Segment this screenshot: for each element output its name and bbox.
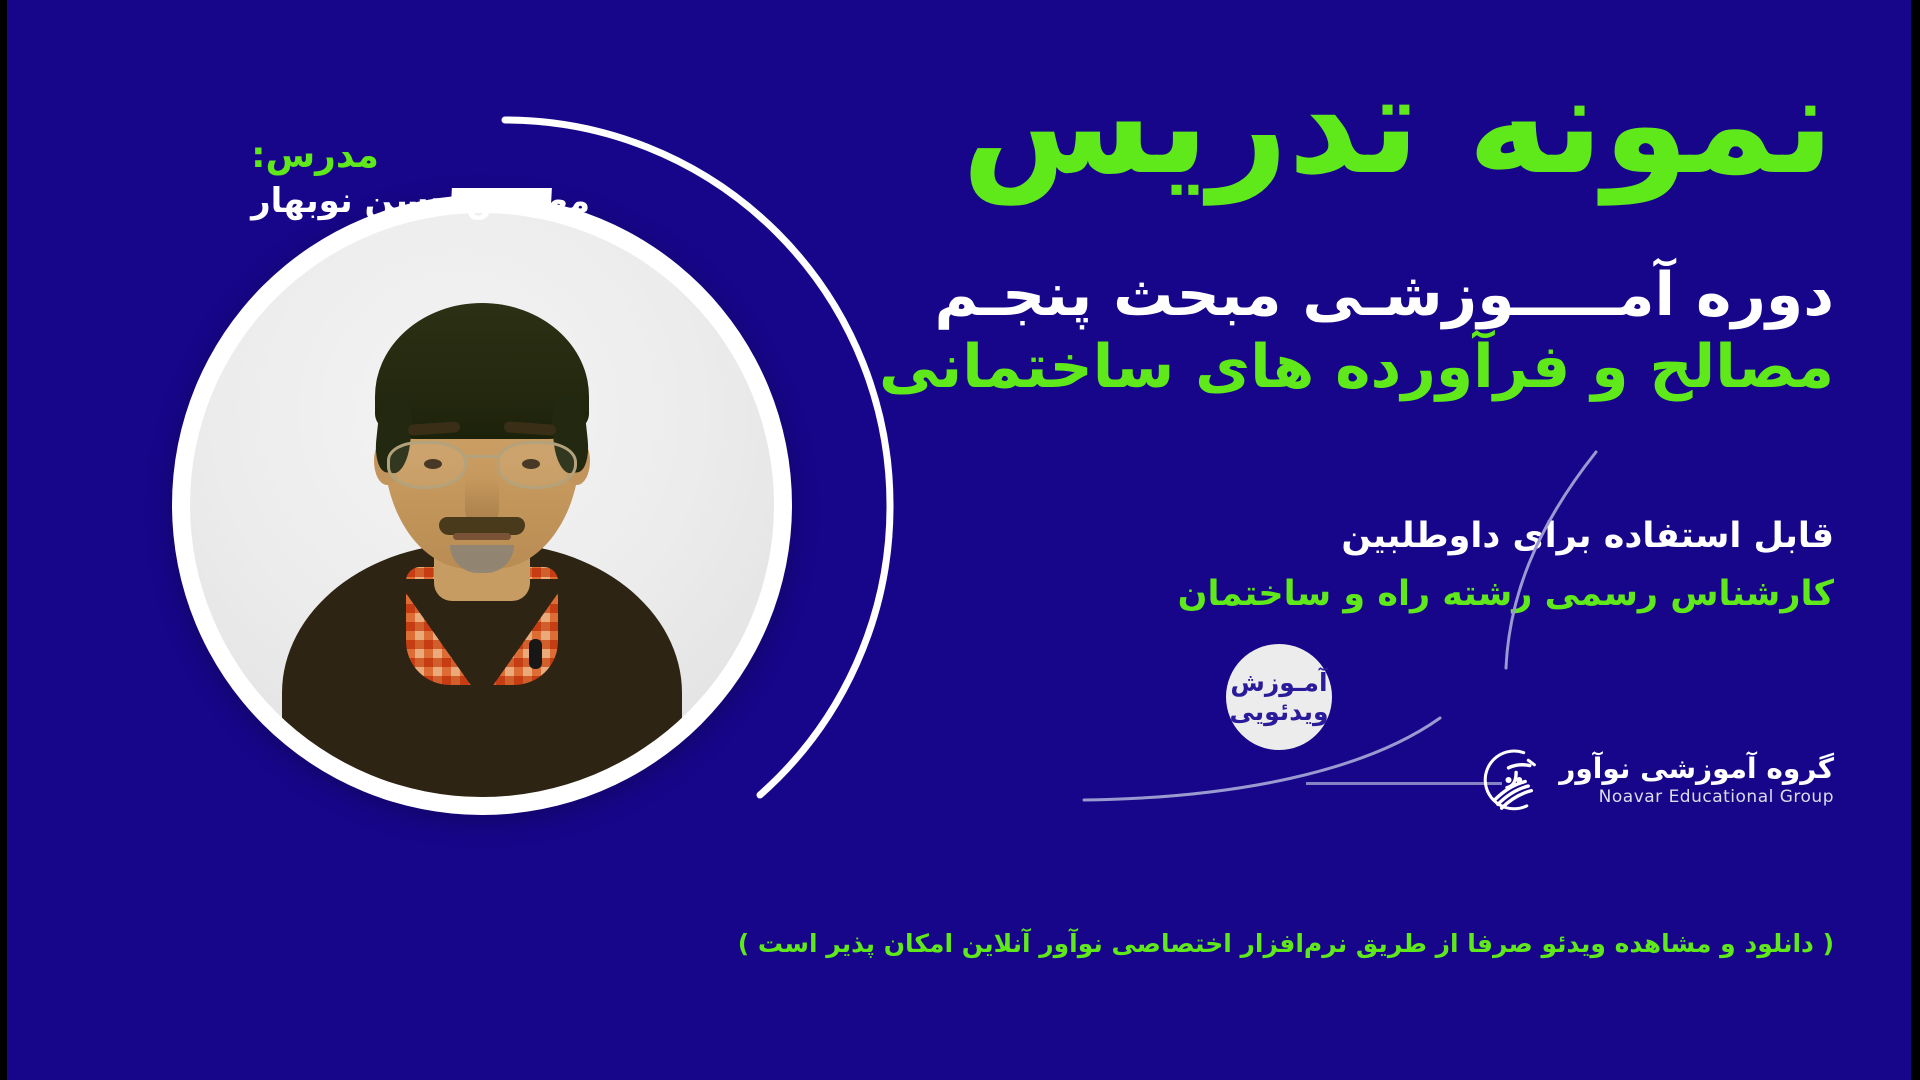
glasses-lens-left: [387, 441, 467, 489]
video-badge-line-2: ویدئویی: [1229, 697, 1328, 727]
content-column: نمونه تدریس دوره آمـــــوزشـی مبحث پنجـم…: [934, 0, 1834, 1080]
brand-text: گروه آموزشی نوآور Noavar Educational Gro…: [1559, 753, 1834, 807]
brand-name-en: Noavar Educational Group: [1559, 787, 1834, 807]
course-subtitle-line-2: مصالح و فرآورده های ساختمانی: [934, 334, 1834, 401]
right-edge-strip: [1911, 0, 1920, 1080]
instructor-caption: مدرس: مهندس حسن نوبهار: [251, 135, 590, 221]
instructor-photo: [190, 213, 774, 797]
disclaimer-text: ( دانلود و مشاهده ویدئو صرفا از طریق نرم…: [934, 929, 1834, 958]
noavar-logo-icon: [1469, 742, 1545, 818]
figure-mouth: [453, 533, 511, 540]
left-edge-strip: [0, 0, 7, 1080]
audience-line-1: قابل استفاده برای داوطلبین: [934, 516, 1834, 556]
brand-name-fa: گروه آموزشی نوآور: [1559, 753, 1834, 785]
figure-lapel-mic: [529, 639, 542, 669]
brand-logo: گروه آموزشی نوآور Noavar Educational Gro…: [1469, 742, 1834, 818]
glasses-lens-right: [497, 441, 577, 489]
instructor-role-label: مدرس:: [251, 135, 590, 176]
audience-line-2: کارشناس رسمی رشته راه و ساختمان: [934, 574, 1834, 614]
instructor-portrait-stage: مدرس: مهندس حسن نوبهار: [150, 95, 940, 885]
figure-hair: [375, 303, 589, 439]
page-title: نمونه تدریس: [934, 56, 1834, 194]
instructor-name: مهندس حسن نوبهار: [251, 182, 590, 221]
instructor-figure: [190, 213, 774, 797]
connector-curve-upper: [1506, 452, 1596, 668]
video-badge-line-1: آمـوزش: [1230, 668, 1327, 698]
glasses-bridge: [465, 455, 499, 458]
course-subtitle-line-1: دوره آمـــــوزشـی مبحث پنجـم: [934, 262, 1834, 329]
slide-root: مدرس: مهندس حسن نوبهار نمونه تدریس دوره …: [0, 0, 1920, 1080]
figure-head: [384, 317, 580, 569]
video-training-badge: آمـوزش ویدئویی: [1226, 644, 1332, 750]
